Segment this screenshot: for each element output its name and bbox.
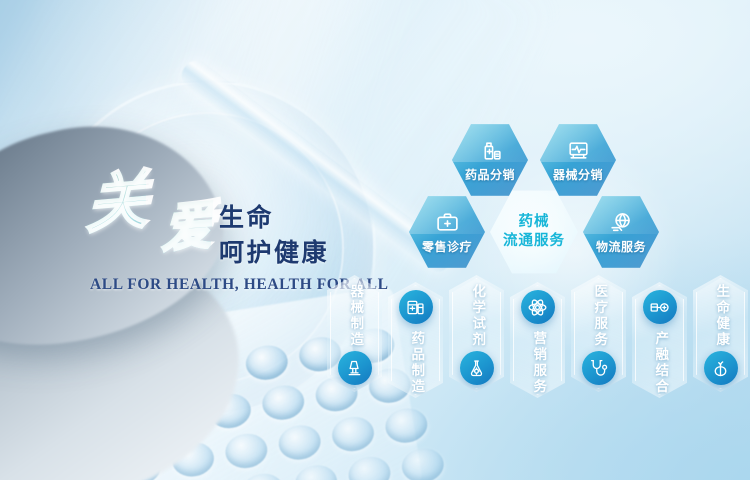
hex-node-drug-distribution[interactable]: 药品分销 [452, 122, 528, 198]
hex-label: 器械分销 [553, 166, 603, 183]
stethoscope-icon [582, 351, 616, 385]
first-aid-kit-icon [435, 210, 460, 235]
pillar-label: 医疗服务 [592, 284, 606, 348]
center-node-text: 药械 流通服务 [503, 213, 565, 250]
pillar-node-drug-manufacturing[interactable]: 药品制造 [388, 282, 443, 398]
center-line-1: 药械 [519, 214, 550, 230]
pillar-label: 化学试剂 [470, 284, 484, 348]
pillar-label: 营销服务 [531, 331, 545, 395]
pillar-node-chemical-reagent[interactable]: 化学试剂 [449, 275, 504, 392]
pillar-label: 药品制造 [409, 331, 423, 395]
pillar-node-marketing-service[interactable]: 营销服务 [510, 282, 565, 398]
pillar-node-life-health[interactable]: 生命健康 [693, 275, 748, 392]
pillar-label: 生命健康 [714, 284, 728, 348]
hex-node-device-distribution[interactable]: 器械分销 [540, 122, 616, 198]
pillar-node-device-manufacturing[interactable]: 器械制造 [327, 275, 382, 392]
hex-node-center-distribution-service[interactable]: 药械 流通服务 [490, 188, 578, 276]
medical-monitor-icon [566, 138, 591, 163]
flask-gear-icon [460, 351, 494, 385]
microscope-icon [338, 351, 372, 385]
sprout-icon [704, 351, 738, 385]
medicine-bottle-icon [478, 138, 503, 163]
hex-node-retail-clinic[interactable]: 零售诊疗 [409, 194, 485, 270]
health-banner: 关 爱 生命 呵护健康 ALL FOR HEALTH, HEALTH FOR A… [0, 0, 750, 480]
hex-node-logistics-service[interactable]: 物流服务 [583, 194, 659, 270]
globe-logistics-icon [609, 210, 634, 235]
service-diagram: 药品分销 器械分销 零售诊疗 [0, 0, 750, 480]
hex-label: 零售诊疗 [422, 238, 472, 255]
hex-label: 药品分销 [465, 166, 515, 183]
center-line-2: 流通服务 [503, 233, 565, 249]
hex-label: 物流服务 [596, 238, 646, 255]
finance-link-icon [643, 290, 677, 324]
pillar-label: 器械制造 [348, 284, 362, 348]
pill-box-icon [399, 290, 433, 324]
pillar-label: 产融结合 [653, 331, 667, 395]
pillar-node-medical-service[interactable]: 医疗服务 [571, 275, 626, 392]
atom-icon [521, 290, 555, 324]
pillar-node-industry-finance[interactable]: 产融结合 [632, 282, 687, 398]
